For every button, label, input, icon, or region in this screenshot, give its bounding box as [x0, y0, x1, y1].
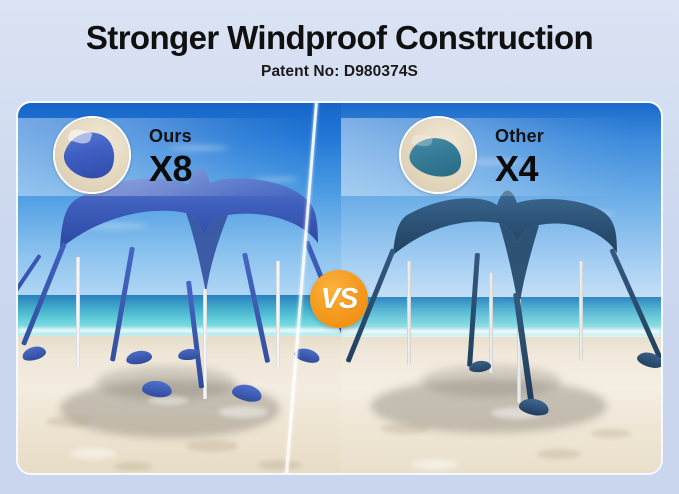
- other-pole: [407, 261, 411, 365]
- ours-sandbag-inset-photo: [53, 116, 131, 194]
- other-sandbag-inset-photo: [399, 116, 477, 194]
- other-label-group: Other X4: [495, 127, 544, 187]
- ours-pole: [76, 257, 80, 367]
- page-title: Stronger Windproof Construction: [0, 0, 679, 56]
- header: Stronger Windproof Construction Patent N…: [0, 0, 679, 81]
- other-label-bar: [341, 118, 631, 196]
- vs-label: VS: [321, 283, 358, 316]
- ours-name-label: Ours: [149, 127, 192, 145]
- ours-label-group: Ours X8: [149, 127, 192, 187]
- ours-count-label: X8: [149, 151, 192, 187]
- patent-subtitle: Patent No: D980374S: [0, 56, 679, 81]
- other-pole: [579, 261, 583, 361]
- other-count-label: X4: [495, 151, 544, 187]
- ours-pole: [276, 261, 280, 367]
- vs-badge: VS: [310, 270, 368, 328]
- comparison-panel: Ours X8 Other X4 VS: [18, 103, 661, 473]
- other-name-label: Other: [495, 127, 544, 145]
- other-pole: [489, 273, 493, 373]
